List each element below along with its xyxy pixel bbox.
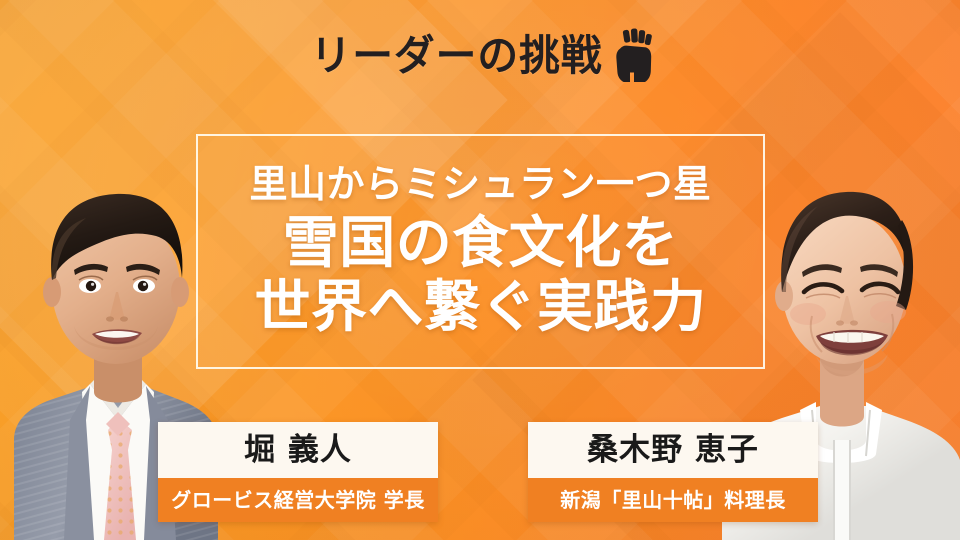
nameplate-right: 桑木野 恵子 新潟「里山十帖」料理長 xyxy=(528,422,818,522)
raised-fist-icon xyxy=(614,28,654,84)
program-logo-text: リーダーの挑戦 xyxy=(311,35,603,77)
nameplate-left: 堀 義人 グロービス経営大学院 学長 xyxy=(158,422,438,522)
speaker-name-left: 堀 義人 xyxy=(158,422,438,478)
video-thumbnail-slide: リーダーの挑戦 里山からミシュラン一つ星 雪国の食文化を 世界へ繋ぐ実践力 xyxy=(0,0,960,540)
speaker-role-right: 新潟「里山十帖」料理長 xyxy=(528,478,818,522)
program-logo: リーダーの挑戦 xyxy=(0,28,960,84)
speaker-role-left: グロービス経営大学院 学長 xyxy=(158,478,438,522)
title-frame-border xyxy=(196,134,765,369)
speaker-name-right: 桑木野 恵子 xyxy=(528,422,818,478)
